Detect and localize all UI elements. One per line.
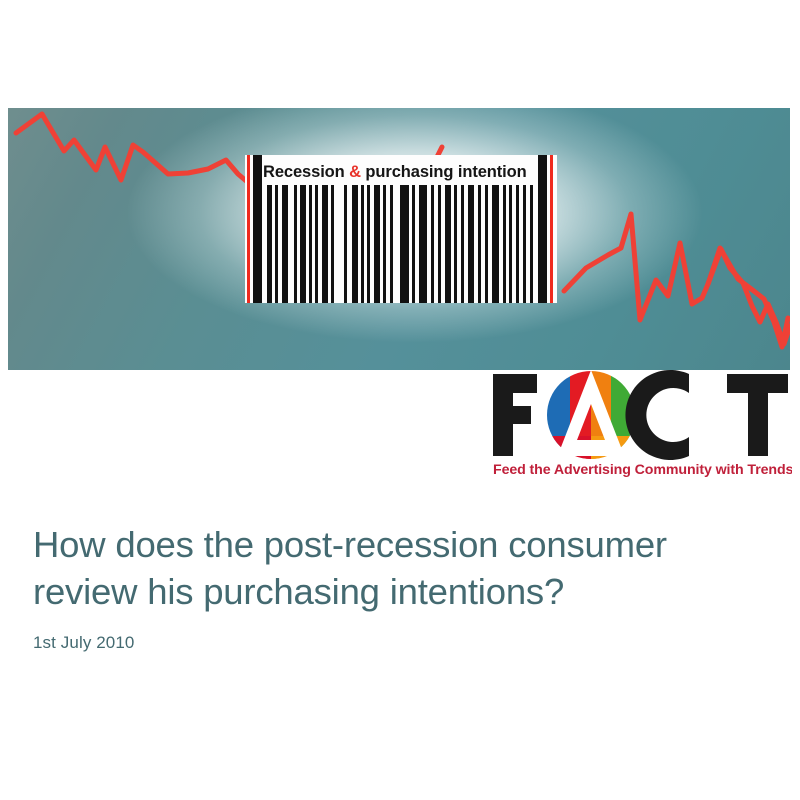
logo-letter-f bbox=[493, 374, 537, 456]
barcode-label: Recession & purchasing intention bbox=[263, 164, 541, 181]
title-block: How does the post-recession consumer rev… bbox=[33, 522, 763, 653]
page-title: How does the post-recession consumer rev… bbox=[33, 522, 763, 615]
trend-line-right bbox=[564, 214, 788, 347]
barcode-block: Recession & purchasing intention bbox=[245, 155, 557, 303]
logo-letter-c bbox=[625, 370, 689, 460]
presentation-date: 1st July 2010 bbox=[33, 633, 763, 653]
trend-line-right-tail bbox=[708, 249, 790, 344]
logo-tagline: Feed the Advertising Community with Tren… bbox=[493, 462, 792, 478]
barcode-label-prefix: Recession bbox=[263, 163, 349, 181]
page-title-line-2: review his purchasing intentions? bbox=[33, 571, 564, 612]
logo-letter-t bbox=[727, 374, 788, 456]
barcode-label-ampersand: & bbox=[349, 163, 361, 181]
page-title-line-1: How does the post-recession consumer bbox=[33, 524, 667, 565]
hero-banner: Recession & purchasing intention bbox=[8, 108, 790, 370]
barcode-label-suffix: purchasing intention bbox=[361, 163, 527, 181]
fact-logo-svg: Feed the Advertising Community with Tren… bbox=[489, 370, 792, 480]
fact-logo: Feed the Advertising Community with Tren… bbox=[489, 370, 792, 480]
